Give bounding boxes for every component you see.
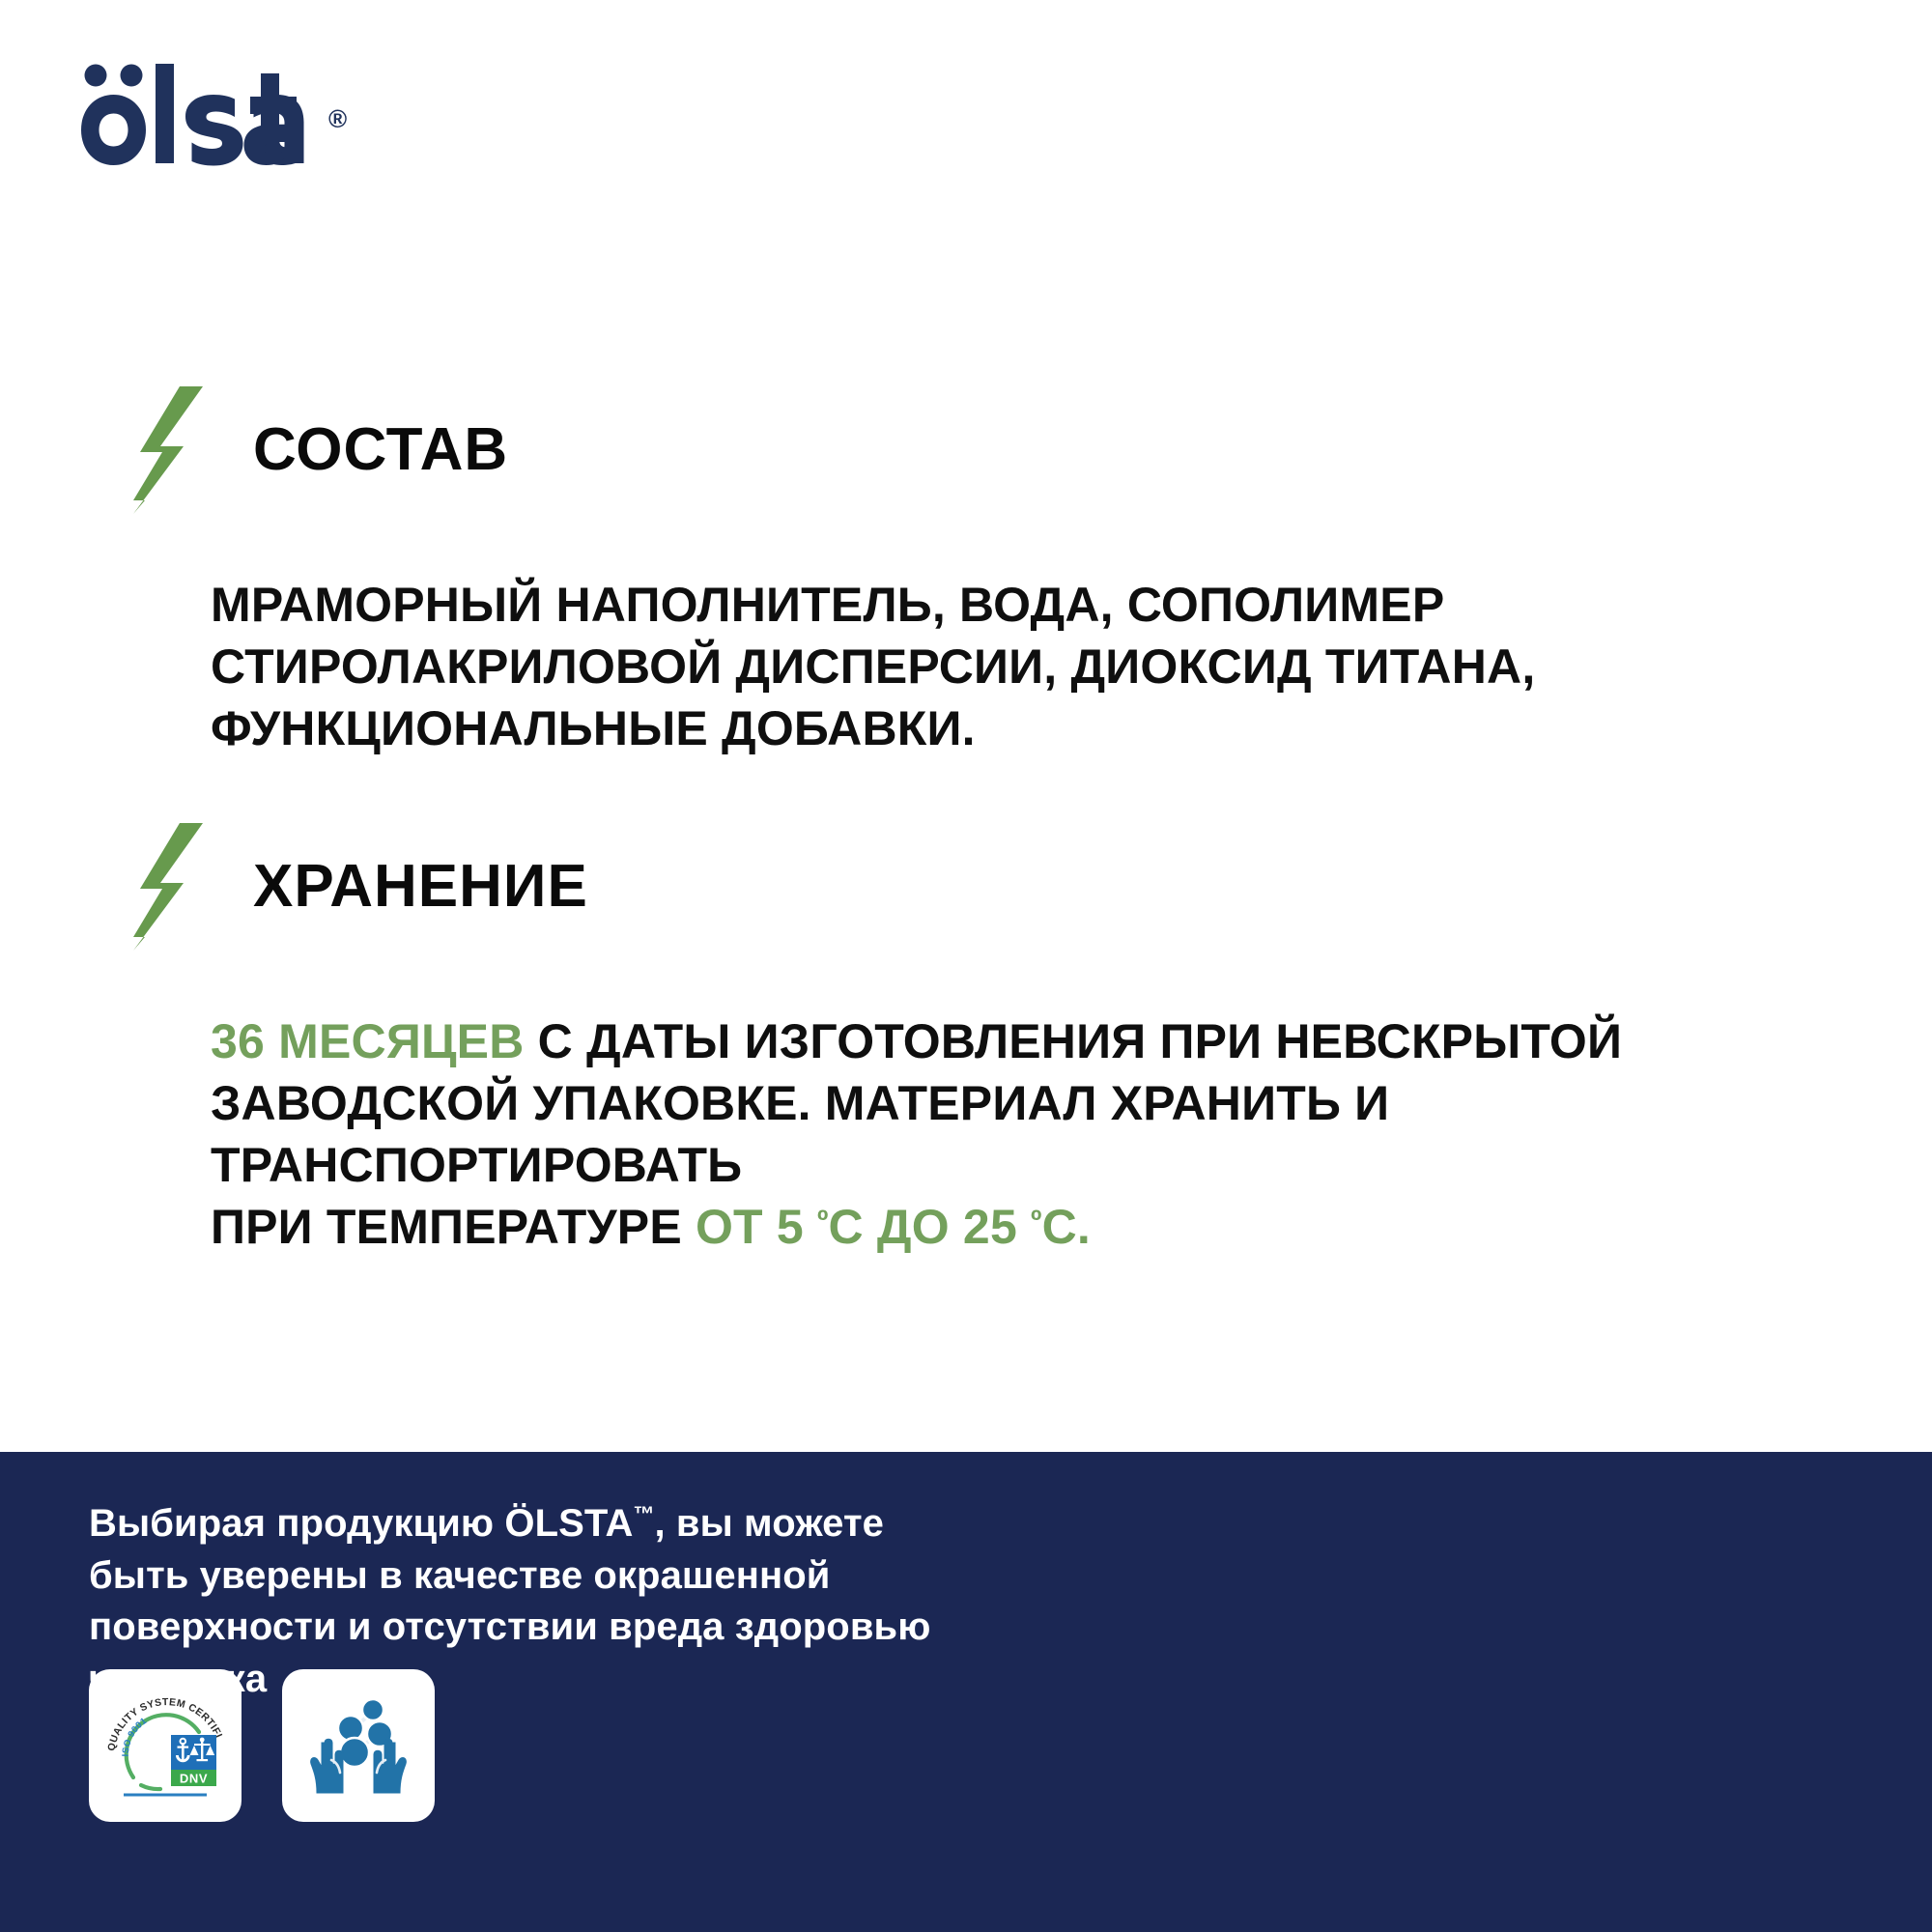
section-storage-body: 36 МЕСЯЦЕВ С ДАТЫ ИЗГОТОВЛЕНИЯ ПРИ НЕВСК… — [211, 1010, 1853, 1258]
temp-to-text: C ДО 25 — [829, 1200, 1032, 1254]
section-storage-header: ХРАНЕНИЕ — [0, 823, 1932, 951]
storage-duration-highlight: 36 МЕСЯЦЕВ — [211, 1014, 525, 1068]
iso-9001-badge[interactable]: QUALITY SYSTEM CERTIFICATION ISO 9001 DN… — [89, 1669, 241, 1822]
section-storage-title: ХРАНЕНИЕ — [253, 857, 588, 917]
section-compound-title: СОСТАВ — [253, 420, 508, 480]
section-storage: ХРАНЕНИЕ 36 МЕСЯЦЕВ С ДАТЫ ИЗГОТОВЛЕНИЯ … — [0, 823, 1932, 1258]
storage-temperature-range: ОТ 5 ºC ДО 25 ºC. — [696, 1200, 1091, 1254]
section-compound-body: МРАМОРНЫЙ НАПОЛНИТЕЛЬ, ВОДА, СОПОЛИМЕР С… — [211, 574, 1853, 759]
footer-message-part1: Выбирая продукцию ÖLSTA — [89, 1502, 633, 1545]
brand-logo: ® — [71, 62, 347, 166]
trademark-symbol: ™ — [633, 1502, 654, 1526]
product-info-page: ® СОСТАВ МРАМОРНЫЙ НАПОЛНИТЕЛЬ, ВОДА, СО… — [0, 0, 1932, 1932]
footer-banner: Выбирая продукцию ÖLSTA™, вы можете быть… — [0, 1452, 1932, 1932]
degree-symbol-icon: º — [1031, 1204, 1042, 1237]
eco-safety-badge[interactable] — [282, 1669, 435, 1822]
svg-text:DNV: DNV — [180, 1772, 208, 1786]
temp-unit-text: C. — [1042, 1200, 1091, 1254]
section-compound: СОСТАВ МРАМОРНЫЙ НАПОЛНИТЕЛЬ, ВОДА, СОПО… — [0, 386, 1932, 759]
lightning-bolt-icon — [133, 386, 203, 514]
olsta-wordmark-icon — [71, 62, 325, 166]
lightning-bolt-icon — [133, 823, 203, 951]
temp-from-text: ОТ 5 — [696, 1200, 817, 1254]
storage-temperature-label: ПРИ ТЕМПЕРАТУРЕ — [211, 1200, 696, 1254]
degree-symbol-icon: º — [817, 1204, 829, 1237]
registered-trademark-symbol: ® — [328, 106, 347, 131]
hands-holding-molecule-icon — [301, 1689, 415, 1803]
iso-9001-dnv-icon: QUALITY SYSTEM CERTIFICATION ISO 9001 DN… — [99, 1679, 232, 1812]
section-compound-header: СОСТАВ — [0, 386, 1932, 514]
certification-badges: QUALITY SYSTEM CERTIFICATION ISO 9001 DN… — [89, 1669, 435, 1822]
